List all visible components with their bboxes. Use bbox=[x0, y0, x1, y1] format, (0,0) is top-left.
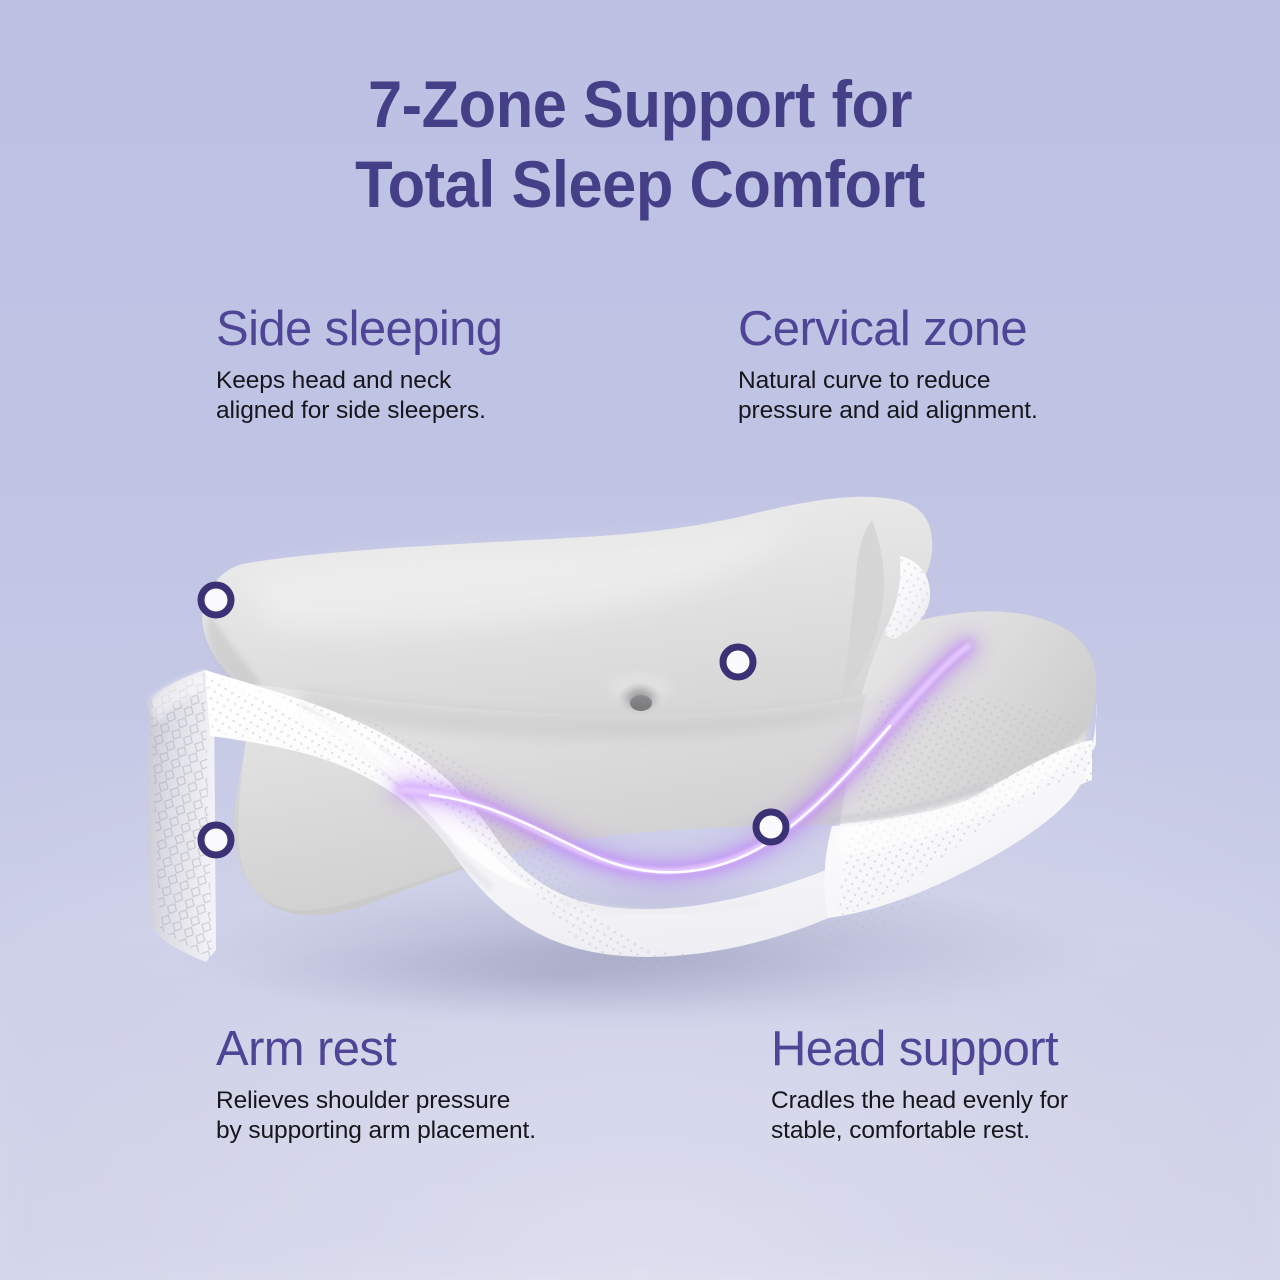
callout-body-cervical-zone: Natural curve to reduce pressure and aid… bbox=[738, 366, 1038, 426]
callout-heading-head-support: Head support bbox=[771, 1021, 1068, 1077]
callout-heading-side-sleeping: Side sleeping bbox=[216, 301, 502, 357]
title-line-2: Total Sleep Comfort bbox=[45, 144, 1235, 224]
callout-body-arm-rest: Relieves shoulder pressure by supporting… bbox=[216, 1086, 536, 1146]
title-line-1: 7-Zone Support for bbox=[45, 64, 1235, 144]
callout-head-support: Head support Cradles the head evenly for… bbox=[771, 1021, 1068, 1146]
callout-side-sleeping: Side sleeping Keeps head and neck aligne… bbox=[216, 301, 502, 426]
infographic-canvas: 7-Zone Support for Total Sleep Comfort S… bbox=[0, 0, 1280, 1280]
callout-heading-cervical-zone: Cervical zone bbox=[738, 301, 1038, 357]
callout-heading-arm-rest: Arm rest bbox=[216, 1021, 536, 1077]
callout-body-side-sleeping: Keeps head and neck aligned for side sle… bbox=[216, 366, 502, 426]
page-title: 7-Zone Support for Total Sleep Comfort bbox=[0, 64, 1280, 224]
callout-arm-rest: Arm rest Relieves shoulder pressure by s… bbox=[216, 1021, 536, 1146]
callout-cervical-zone: Cervical zone Natural curve to reduce pr… bbox=[738, 301, 1038, 426]
callout-body-head-support: Cradles the head evenly for stable, comf… bbox=[771, 1086, 1068, 1146]
